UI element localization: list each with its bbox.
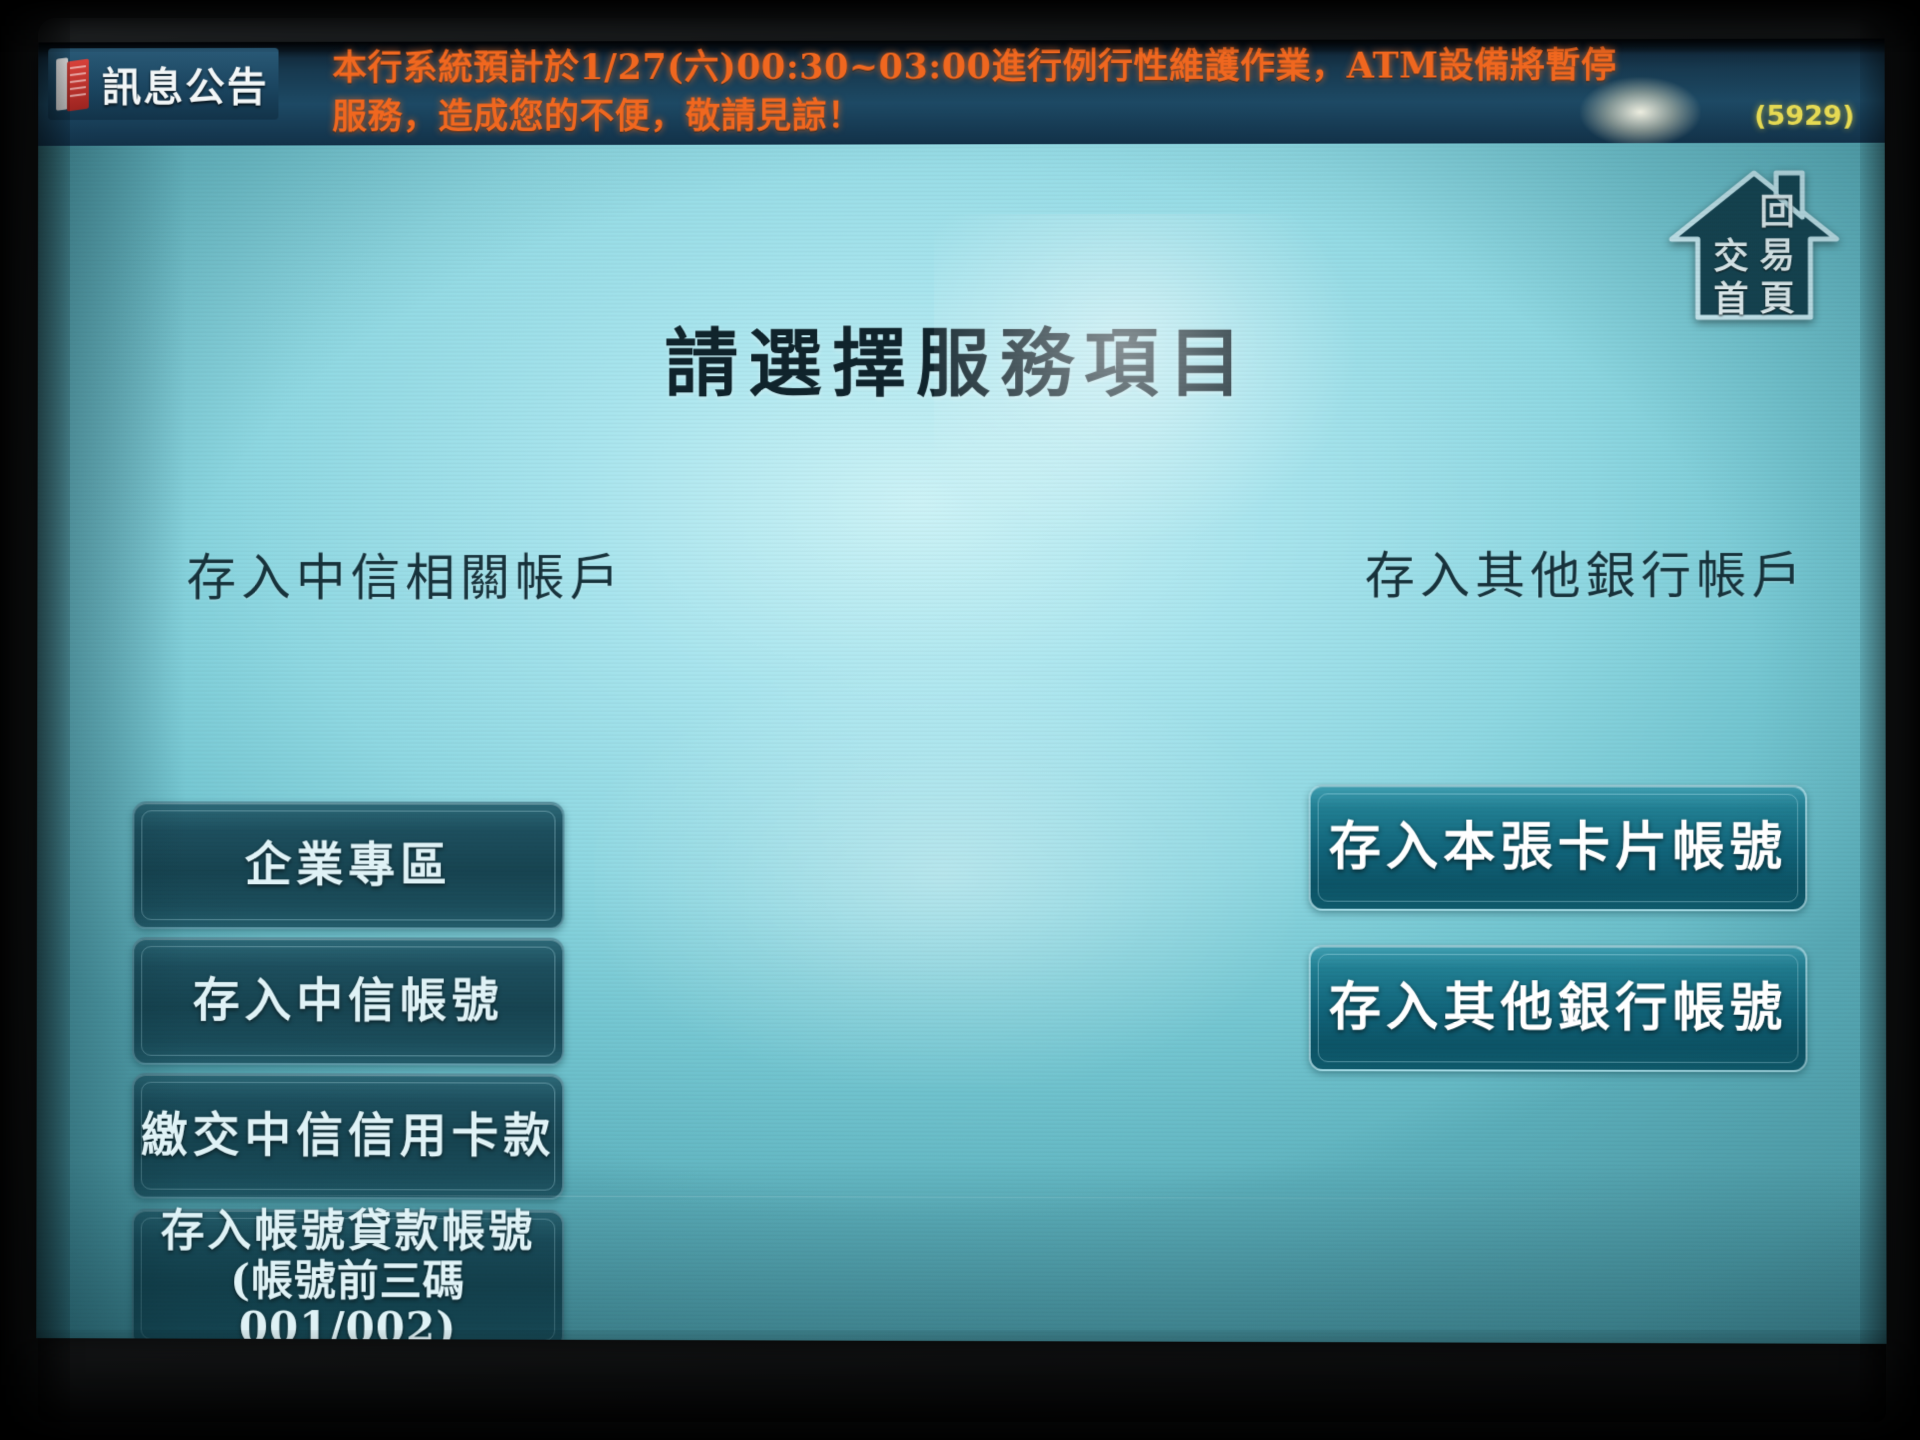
home-char-4: 交 [1713,235,1748,278]
screen-content: 請選擇服務項目 回 易 頁 交 [36,143,1886,1344]
right-column-header: 存入其他銀行帳戶 [1365,536,1807,608]
button-corporate-zone[interactable]: 企業專區 [132,801,564,929]
button-pay-ctbc-credit-card-label: 繳交中信信用卡款 [141,1108,555,1164]
button-deposit-other-bank-account[interactable]: 存入其他銀行帳號 [1309,945,1808,1072]
screen-glare-center [594,664,1294,1085]
button-pay-ctbc-credit-card[interactable]: 繳交中信信用卡款 [132,1073,564,1200]
announcement-bar: 訊息公告 本行系統預計於1/27(六)00:30~03:00進行例行性維護作業，… [38,39,1885,146]
home-char-5: 首 [1713,278,1748,321]
atm-screen: 訊息公告 本行系統預計於1/27(六)00:30~03:00進行例行性維護作業，… [36,39,1886,1344]
button-corporate-zone-label: 企業專區 [245,838,452,894]
announcement-code: (5929) [1754,101,1854,132]
atm-photo: 訊息公告 本行系統預計於1/27(六)00:30~03:00進行例行性維護作業，… [0,0,1920,1440]
button-deposit-loan-account-main: 存入帳號貸款帳號 [161,1206,536,1258]
home-button-label: 回 易 頁 交 首 [1664,191,1845,320]
button-deposit-ctbc-account[interactable]: 存入中信帳號 [132,937,564,1066]
button-deposit-loan-account-sub: (帳號前三碼001/002) [134,1256,562,1344]
button-deposit-this-card-account-label: 存入本張卡片帳號 [1329,817,1787,879]
home-label-column-2: 交 首 [1708,191,1754,321]
home-char-2: 易 [1760,234,1795,277]
home-char-1: 回 [1760,191,1795,234]
button-deposit-ctbc-account-label: 存入中信帳號 [193,973,504,1029]
button-deposit-loan-account[interactable]: 存入帳號貸款帳號 (帳號前三碼001/002) [132,1209,565,1344]
announcement-message-line1: 本行系統預計於1/27(六)00:30~03:00進行例行性維護作業，ATM設備… [332,41,1752,93]
page-title: 請選擇服務項目 [38,303,1885,411]
announcement-message: 本行系統預計於1/27(六)00:30~03:00進行例行性維護作業，ATM設備… [332,41,1752,142]
announcement-label: 訊息公告 [102,55,269,113]
home-char-3: 頁 [1760,277,1795,320]
announcement-label-group: 訊息公告 [48,48,278,120]
announcement-book-icon [54,56,92,112]
home-label-column-1: 回 易 頁 [1754,191,1800,320]
atm-screen-wrapper: 訊息公告 本行系統預計於1/27(六)00:30~03:00進行例行性維護作業，… [36,39,1886,1365]
button-deposit-loan-account-label: 存入帳號貸款帳號 (帳號前三碼001/002) [134,1207,563,1344]
left-column-header: 存入中信相關帳戶 [186,538,624,610]
button-deposit-other-bank-account-label: 存入其他銀行帳號 [1329,977,1788,1039]
return-home-button[interactable]: 回 易 頁 交 首 [1664,165,1845,326]
announcement-message-line2: 服務，造成您的不便，敬請見諒！ [332,90,1752,142]
button-deposit-this-card-account[interactable]: 存入本張卡片帳號 [1309,784,1808,911]
